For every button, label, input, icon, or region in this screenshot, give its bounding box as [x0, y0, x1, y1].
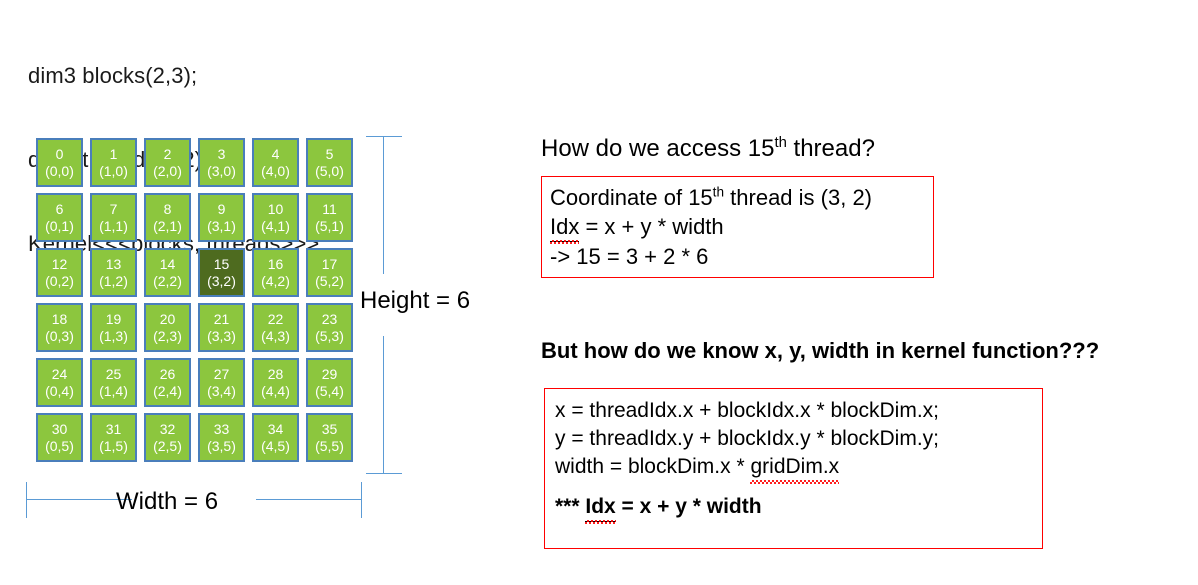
code-box-line-x: x = threadIdx.x + blockIdx.x * blockDim.…: [555, 397, 1042, 425]
width-label: Width = 6: [116, 487, 218, 517]
thread-cell-id: 22: [268, 311, 284, 328]
thread-cell-coord: (3,5): [207, 438, 236, 455]
thread-cell-id: 29: [322, 366, 338, 383]
thread-cell-id: 25: [106, 366, 122, 383]
thread-cell-id: 16: [268, 256, 284, 273]
thread-cell-coord: (4,5): [261, 438, 290, 455]
height-bracket-lower-stem: [383, 336, 384, 474]
thread-cell-11[interactable]: 11(5,1): [306, 193, 353, 242]
kernel-code-box: x = threadIdx.x + blockIdx.x * blockDim.…: [544, 388, 1043, 549]
thread-cell-coord: (2,0): [153, 163, 182, 180]
thread-cell-id: 27: [214, 366, 230, 383]
thread-cell-id: 2: [164, 146, 172, 163]
thread-cell-coord: (1,4): [99, 383, 128, 400]
thread-cell-id: 19: [106, 311, 122, 328]
thread-cell-coord: (4,1): [261, 218, 290, 235]
thread-cell-coord: (0,2): [45, 273, 74, 290]
thread-cell-coord: (2,4): [153, 383, 182, 400]
thread-cell-16[interactable]: 16(4,2): [252, 248, 299, 297]
thread-cell-coord: (1,0): [99, 163, 128, 180]
thread-cell-id: 1: [110, 146, 118, 163]
question-1-suffix: thread?: [787, 135, 875, 162]
thread-cell-id: 24: [52, 366, 68, 383]
code-box-line3-prefix: width = blockDim.x *: [555, 455, 750, 478]
thread-cell-id: 20: [160, 311, 176, 328]
thread-cell-7[interactable]: 7(1,1): [90, 193, 137, 242]
thread-cell-1[interactable]: 1(1,0): [90, 138, 137, 187]
thread-cell-6[interactable]: 6(0,1): [36, 193, 83, 242]
thread-cell-id: 12: [52, 256, 68, 273]
thread-cell-9[interactable]: 9(3,1): [198, 193, 245, 242]
code-box-line-idx-summary: *** Idx = x + y * width: [555, 493, 1042, 522]
thread-cell-id: 11: [322, 201, 337, 218]
width-bracket-right-stem: [256, 499, 362, 500]
thread-cell-id: 13: [106, 256, 122, 273]
thread-cell-id: 26: [160, 366, 176, 383]
answer-line1-suffix: thread is (3, 2): [724, 185, 872, 210]
thread-cell-id: 15: [214, 256, 230, 273]
code-box-line4-stars: ***: [555, 495, 585, 518]
thread-cell-32[interactable]: 32(2,5): [144, 413, 191, 462]
thread-cell-id: 0: [56, 146, 64, 163]
thread-cell-coord: (5,0): [315, 163, 344, 180]
code-box-line-y: y = threadIdx.y + blockIdx.y * blockDim.…: [555, 425, 1042, 453]
thread-cell-coord: (2,1): [153, 218, 182, 235]
thread-cell-15[interactable]: 15(3,2): [198, 248, 245, 297]
code-box-line-width: width = blockDim.x * gridDim.x: [555, 453, 1042, 481]
idx-token: Idx: [550, 212, 579, 242]
thread-cell-coord: (4,3): [261, 328, 290, 345]
thread-cell-14[interactable]: 14(2,2): [144, 248, 191, 297]
thread-cell-coord: (3,2): [207, 273, 236, 290]
thread-cell-24[interactable]: 24(0,4): [36, 358, 83, 407]
thread-cell-3[interactable]: 3(3,0): [198, 138, 245, 187]
thread-cell-coord: (0,4): [45, 383, 74, 400]
thread-cell-20[interactable]: 20(2,3): [144, 303, 191, 352]
thread-cell-5[interactable]: 5(5,0): [306, 138, 353, 187]
thread-cell-id: 5: [326, 146, 334, 163]
thread-cell-coord: (5,4): [315, 383, 344, 400]
width-bracket-left-cap: [26, 482, 27, 518]
thread-cell-30[interactable]: 30(0,5): [36, 413, 83, 462]
thread-cell-coord: (0,0): [45, 163, 74, 180]
thread-cell-10[interactable]: 10(4,1): [252, 193, 299, 242]
thread-cell-28[interactable]: 28(4,4): [252, 358, 299, 407]
thread-cell-13[interactable]: 13(1,2): [90, 248, 137, 297]
thread-cell-id: 23: [322, 311, 338, 328]
answer-line1-ordinal-suffix: th: [713, 185, 724, 200]
thread-cell-coord: (3,3): [207, 328, 236, 345]
thread-cell-id: 34: [268, 421, 284, 438]
answer-line-idx-formula: Idx = x + y * width: [550, 212, 933, 242]
code-box-line4-rest: = x + y * width: [616, 495, 762, 518]
thread-cell-coord: (5,5): [315, 438, 344, 455]
question-access-thread: How do we access 15th thread?: [541, 134, 875, 164]
thread-cell-id: 17: [322, 256, 338, 273]
thread-cell-coord: (3,4): [207, 383, 236, 400]
thread-cell-coord: (1,5): [99, 438, 128, 455]
thread-cell-id: 3: [218, 146, 226, 163]
code-line: dim3 blocks(2,3);: [28, 62, 319, 90]
thread-cell-coord: (5,1): [315, 218, 344, 235]
question-1-prefix: How do we access 15: [541, 135, 774, 162]
thread-cell-id: 4: [272, 146, 280, 163]
answer-line-coordinate: Coordinate of 15th thread is (3, 2): [550, 183, 933, 212]
thread-cell-coord: (5,3): [315, 328, 344, 345]
thread-cell-coord: (4,2): [261, 273, 290, 290]
answer-line-substitution: -> 15 = 3 + 2 * 6: [550, 242, 933, 271]
thread-cell-coord: (2,2): [153, 273, 182, 290]
thread-cell-id: 32: [160, 421, 176, 438]
answer-line2-rest: = x + y * width: [579, 214, 723, 239]
thread-cell-coord: (4,4): [261, 383, 290, 400]
thread-cell-id: 18: [52, 311, 68, 328]
thread-cell-21[interactable]: 21(3,3): [198, 303, 245, 352]
thread-cell-id: 28: [268, 366, 284, 383]
thread-cell-8[interactable]: 8(2,1): [144, 193, 191, 242]
thread-cell-27[interactable]: 27(3,4): [198, 358, 245, 407]
thread-cell-0[interactable]: 0(0,0): [36, 138, 83, 187]
thread-cell-12[interactable]: 12(0,2): [36, 248, 83, 297]
thread-cell-35[interactable]: 35(5,5): [306, 413, 353, 462]
thread-cell-coord: (2,5): [153, 438, 182, 455]
thread-cell-25[interactable]: 25(1,4): [90, 358, 137, 407]
thread-cell-22[interactable]: 22(4,3): [252, 303, 299, 352]
question-1-ordinal-suffix: th: [774, 135, 786, 151]
thread-cell-id: 7: [110, 201, 118, 218]
thread-cell-coord: (5,2): [315, 273, 344, 290]
thread-cell-coord: (0,1): [45, 218, 74, 235]
thread-cell-17[interactable]: 17(5,2): [306, 248, 353, 297]
thread-cell-id: 9: [218, 201, 226, 218]
thread-cell-id: 31: [106, 421, 122, 438]
thread-cell-id: 14: [160, 256, 176, 273]
thread-cell-id: 8: [164, 201, 172, 218]
height-bracket-upper-stem: [383, 136, 384, 274]
thread-cell-18[interactable]: 18(0,3): [36, 303, 83, 352]
thread-cell-coord: (3,0): [207, 163, 236, 180]
thread-cell-coord: (0,5): [45, 438, 74, 455]
thread-cell-26[interactable]: 26(2,4): [144, 358, 191, 407]
thread-cell-2[interactable]: 2(2,0): [144, 138, 191, 187]
thread-cell-19[interactable]: 19(1,3): [90, 303, 137, 352]
thread-cell-id: 21: [214, 311, 230, 328]
idx-token: Idx: [585, 493, 615, 522]
thread-cell-id: 10: [268, 201, 284, 218]
thread-cell-34[interactable]: 34(4,5): [252, 413, 299, 462]
thread-cell-coord: (4,0): [261, 163, 290, 180]
thread-cell-coord: (1,3): [99, 328, 128, 345]
thread-cell-coord: (1,1): [99, 218, 128, 235]
thread-cell-29[interactable]: 29(5,4): [306, 358, 353, 407]
height-bracket-top-cap: [366, 136, 402, 137]
thread-cell-31[interactable]: 31(1,5): [90, 413, 137, 462]
thread-cell-coord: (1,2): [99, 273, 128, 290]
griddim-token: gridDim.x: [750, 453, 839, 481]
answer-line1-prefix: Coordinate of 15: [550, 185, 713, 210]
thread-cell-coord: (2,3): [153, 328, 182, 345]
thread-cell-id: 30: [52, 421, 68, 438]
thread-cell-id: 33: [214, 421, 230, 438]
thread-cell-coord: (0,3): [45, 328, 74, 345]
thread-cell-4[interactable]: 4(4,0): [252, 138, 299, 187]
thread-grid: 0(0,0)1(1,0)2(2,0)3(3,0)4(4,0)5(5,0)6(0,…: [36, 138, 353, 462]
question-kernel-variables: But how do we know x, y, width in kernel…: [541, 337, 1099, 365]
thread-cell-id: 6: [56, 201, 64, 218]
height-bracket-bottom-cap: [366, 473, 402, 474]
width-bracket-right-cap: [361, 482, 362, 518]
answer-box: Coordinate of 15th thread is (3, 2) Idx …: [541, 176, 934, 278]
thread-cell-coord: (3,1): [207, 218, 236, 235]
thread-cell-23[interactable]: 23(5,3): [306, 303, 353, 352]
height-label: Height = 6: [360, 286, 470, 316]
thread-cell-33[interactable]: 33(3,5): [198, 413, 245, 462]
thread-cell-id: 35: [322, 421, 338, 438]
